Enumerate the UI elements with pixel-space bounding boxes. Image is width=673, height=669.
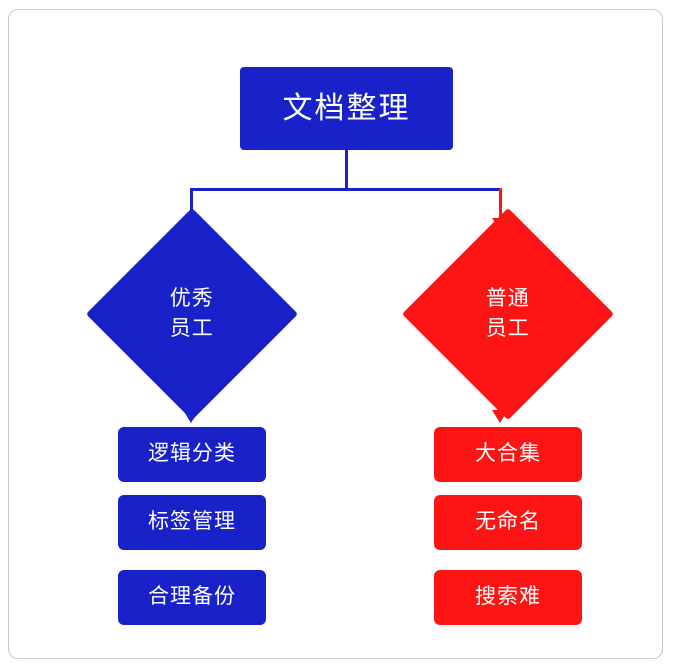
leaf-node-right-3-label: 搜索难 — [475, 584, 541, 610]
diagram-frame: 文档整理 优秀 员工 普通 员工 逻辑分类 标签管理 合理备份 大合集 无命名 … — [8, 9, 663, 659]
leaf-node-right-1[interactable]: 大合集 — [434, 427, 582, 482]
connector-horizontal-bus — [190, 188, 502, 191]
diagram-canvas: 文档整理 优秀 员工 普通 员工 逻辑分类 标签管理 合理备份 大合集 无命名 … — [0, 0, 673, 669]
leaf-node-left-1-label: 逻辑分类 — [148, 441, 236, 467]
leaf-node-right-3[interactable]: 搜索难 — [434, 570, 582, 625]
branch-node-left-label: 优秀 员工 — [170, 284, 214, 345]
leaf-node-right-1-label: 大合集 — [475, 441, 541, 467]
leaf-node-right-2[interactable]: 无命名 — [434, 495, 582, 550]
leaf-node-left-3-label: 合理备份 — [148, 584, 236, 610]
branch-node-right-label: 普通 员工 — [486, 284, 530, 345]
branch-node-right[interactable]: 普通 员工 — [402, 208, 614, 420]
leaf-node-left-1[interactable]: 逻辑分类 — [118, 427, 266, 482]
root-node[interactable]: 文档整理 — [240, 67, 453, 150]
leaf-node-right-2-label: 无命名 — [475, 509, 541, 535]
leaf-node-left-2-label: 标签管理 — [148, 509, 236, 535]
connector-root-vertical — [345, 150, 348, 190]
leaf-node-left-3[interactable]: 合理备份 — [118, 570, 266, 625]
root-node-label: 文档整理 — [283, 90, 411, 128]
leaf-node-left-2[interactable]: 标签管理 — [118, 495, 266, 550]
branch-node-left[interactable]: 优秀 员工 — [86, 208, 298, 420]
